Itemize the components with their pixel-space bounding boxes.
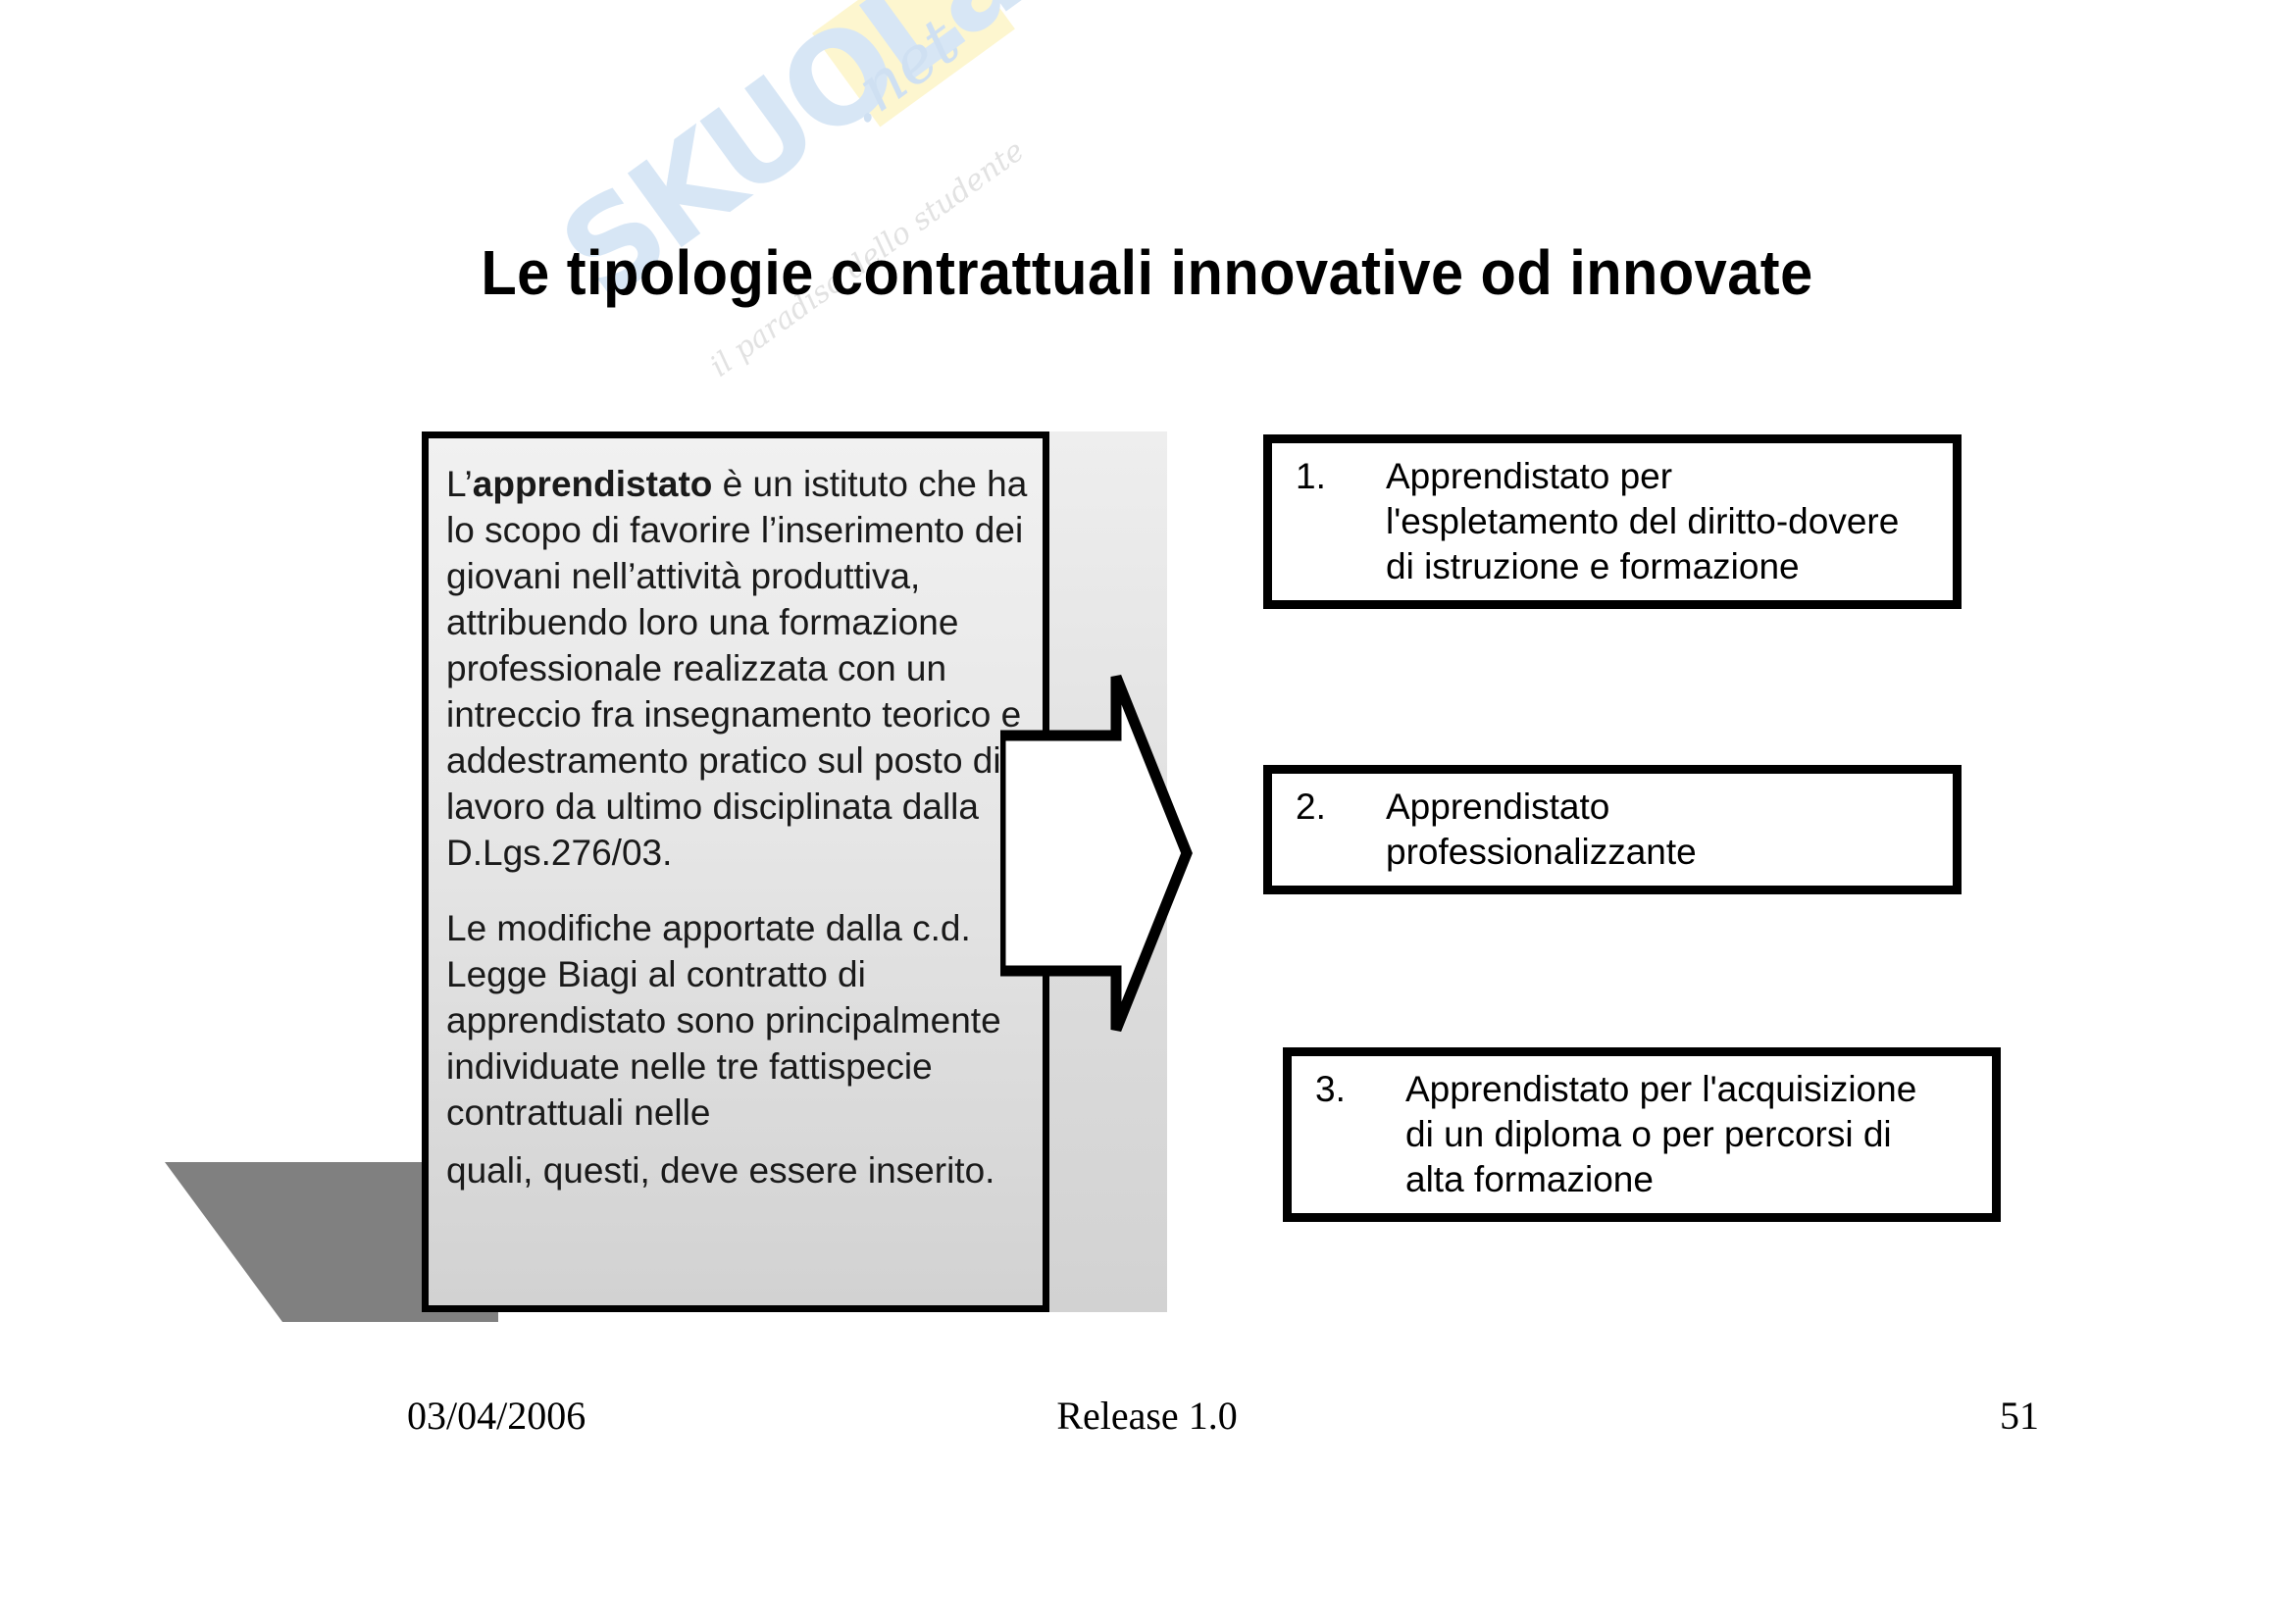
definition-paragraph-2: Le modifiche apportate dalla c.d. Legge … — [446, 905, 1035, 1136]
slide-footer: 03/04/2006 Release 1.0 51 — [0, 1393, 2294, 1451]
definition-paragraph-1: L’apprendistato è un istituto che ha lo … — [446, 461, 1035, 876]
type-box-2-content: 2. Apprendistato professionalizzante — [1272, 785, 1953, 875]
type-box-2-number: 2. — [1296, 785, 1386, 830]
slide-canvas: SKUOLa .net il paradiso dello studente L… — [0, 0, 2294, 1624]
type-box-3[interactable]: 3. Apprendistato per l'acquisizione di u… — [1283, 1047, 2001, 1222]
definition-rest: è un istituto che ha lo scopo di favorir… — [446, 464, 1027, 873]
type-box-3-content: 3. Apprendistato per l'acquisizione di u… — [1292, 1067, 1992, 1202]
right-arrow-icon — [1000, 647, 1197, 1059]
watermark: SKUOLa .net il paradiso dello studente — [549, 10, 1098, 422]
type-box-1-number: 1. — [1296, 454, 1386, 499]
type-box-2-label: Apprendistato professionalizzante — [1386, 785, 1953, 875]
type-box-3-label: Apprendistato per l'acquisizione di un d… — [1405, 1067, 1992, 1202]
footer-release: Release 1.0 — [0, 1393, 2294, 1439]
slide-title: Le tipologie contrattuali innovative od … — [80, 237, 2214, 308]
watermark-highlight-patch — [812, 0, 1015, 127]
type-box-1[interactable]: 1. Apprendistato per l'espletamento del … — [1263, 434, 1962, 609]
watermark-suffix-text: .net — [826, 3, 973, 138]
type-box-1-content: 1. Apprendistato per l'espletamento del … — [1272, 454, 1953, 589]
definition-box-text: L’apprendistato è un istituto che ha lo … — [446, 461, 1035, 1193]
definition-paragraph-2-tail: quali, questi, deve essere inserito. — [446, 1147, 1035, 1193]
definition-keyword: apprendistato — [473, 464, 713, 504]
type-box-2[interactable]: 2. Apprendistato professionalizzante — [1263, 765, 1962, 894]
type-box-1-label: Apprendistato per l'espletamento del dir… — [1386, 454, 1953, 589]
footer-page-number: 51 — [2000, 1393, 2039, 1439]
definition-prefix: L’ — [446, 464, 473, 504]
type-box-3-number: 3. — [1315, 1067, 1405, 1112]
